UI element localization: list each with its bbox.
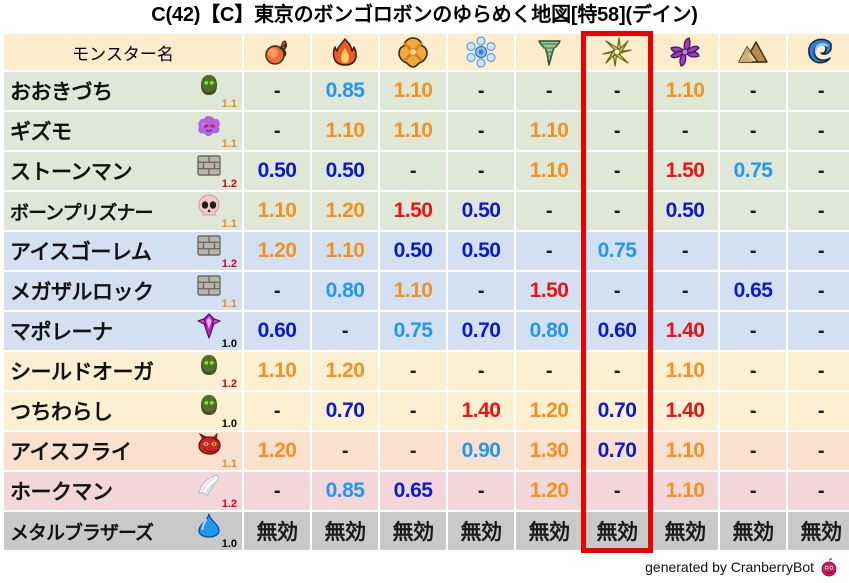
monster-name-label: シールドオーガ xyxy=(10,356,154,386)
resistance-cell[interactable]: 1.10 xyxy=(380,112,446,150)
monster-name-label: ホークマン xyxy=(10,476,113,506)
resistance-cell[interactable]: 1.50 xyxy=(516,272,582,310)
header-monster-name: モンスター名 xyxy=(4,34,242,70)
purple-ghost-icon xyxy=(195,113,223,139)
resistance-cell[interactable]: - xyxy=(312,312,378,350)
mountain-icon xyxy=(737,36,769,68)
resistance-cell[interactable]: - xyxy=(516,352,582,390)
resistance-cell[interactable]: - xyxy=(720,112,786,150)
resistance-cell[interactable]: 無効 xyxy=(312,512,378,550)
tornado-icon xyxy=(533,36,565,68)
monster-icon-wrap: 1.2 xyxy=(192,232,238,270)
resistance-cell[interactable]: - xyxy=(788,232,849,270)
resistance-cell[interactable]: 無効 xyxy=(516,512,582,550)
header-element-mera[interactable] xyxy=(244,34,310,70)
resistance-cell[interactable]: - xyxy=(516,72,582,110)
resistance-cell[interactable]: - xyxy=(244,272,310,310)
resistance-cell[interactable]: 1.10 xyxy=(380,272,446,310)
resistance-cell[interactable]: 0.75 xyxy=(380,312,446,350)
brick-wall-icon xyxy=(195,233,223,259)
table-body: おおきづち1.1-0.851.10---1.10--ギズモ1.1-1.101.1… xyxy=(4,72,849,550)
snowflake-icon xyxy=(465,36,497,68)
resistance-cell[interactable]: - xyxy=(720,432,786,470)
resistance-cell[interactable]: 1.10 xyxy=(244,352,310,390)
monster-name-cell[interactable]: メタルブラザーズ1.0 xyxy=(4,512,242,550)
resistance-cell[interactable]: - xyxy=(448,72,514,110)
monster-level-multiplier: 1.1 xyxy=(222,99,237,110)
resistance-cell[interactable]: 1.10 xyxy=(652,352,718,390)
resistance-cell[interactable]: 1.10 xyxy=(312,232,378,270)
monster-name-label: アイスフライ xyxy=(10,436,131,466)
monster-level-multiplier: 1.2 xyxy=(222,179,237,190)
resistance-cell[interactable]: - xyxy=(448,272,514,310)
monster-level-multiplier: 1.1 xyxy=(222,459,237,470)
resistance-cell[interactable]: 0.50 xyxy=(448,192,514,230)
resistance-cell[interactable]: - xyxy=(788,72,849,110)
monster-name-cell[interactable]: ホークマン1.2 xyxy=(4,472,242,510)
resistance-cell[interactable]: - xyxy=(720,232,786,270)
resistance-cell[interactable]: - xyxy=(448,112,514,150)
resistance-cell[interactable]: - xyxy=(516,232,582,270)
red-dragon-icon xyxy=(195,433,223,459)
resistance-cell[interactable]: 1.10 xyxy=(516,152,582,190)
footer-text: generated by CranberryBot xyxy=(645,559,814,575)
resistance-cell[interactable]: 無効 xyxy=(788,512,849,550)
monster-icon-wrap: 1.2 xyxy=(192,152,238,190)
table-row: つちわらし1.0-0.70-1.401.200.701.40-- xyxy=(4,392,849,430)
resistance-cell[interactable]: 0.60 xyxy=(584,312,650,350)
monster-name-cell[interactable]: アイスフライ1.1 xyxy=(4,432,242,470)
white-wing-icon xyxy=(195,473,223,499)
resistance-cell[interactable]: - xyxy=(380,352,446,390)
resistance-cell[interactable]: - xyxy=(380,152,446,190)
resistance-cell[interactable]: 1.20 xyxy=(312,192,378,230)
table-row: メガザルロック1.1-0.801.10-1.50--0.65- xyxy=(4,272,849,310)
table-header-row: モンスター名 xyxy=(4,34,849,70)
table-row: シールドオーガ1.21.101.20----1.10-- xyxy=(4,352,849,390)
table-row: ギズモ1.1-1.101.10-1.10---- xyxy=(4,112,849,150)
resistance-cell[interactable]: - xyxy=(720,472,786,510)
monster-name-label: つちわらし xyxy=(10,396,113,426)
wave-icon xyxy=(805,36,837,68)
header-element-io[interactable] xyxy=(380,34,446,70)
monster-level-multiplier: 1.0 xyxy=(222,539,237,550)
resistance-cell[interactable]: 0.50 xyxy=(244,152,310,190)
resistance-cell[interactable]: 無効 xyxy=(380,512,446,550)
monster-name-label: マポレーナ xyxy=(10,316,113,346)
resistance-cell[interactable]: - xyxy=(448,352,514,390)
resistance-cell[interactable]: - xyxy=(584,192,650,230)
header-element-dein[interactable] xyxy=(584,34,650,70)
resistance-cell[interactable]: - xyxy=(788,152,849,190)
cranberry-icon xyxy=(819,557,839,577)
monster-name-cell[interactable]: つちわらし1.0 xyxy=(4,392,242,430)
monster-name-label: ボーンプリズナー xyxy=(10,198,152,225)
resistance-cell[interactable]: - xyxy=(720,312,786,350)
table-row: アイスフライ1.11.20--0.901.300.701.10-- xyxy=(4,432,849,470)
resistance-cell[interactable]: - xyxy=(380,392,446,430)
monster-name-cell[interactable]: ギズモ1.1 xyxy=(4,112,242,150)
resistance-cell[interactable]: 1.40 xyxy=(652,392,718,430)
resistance-cell[interactable]: 0.85 xyxy=(312,472,378,510)
monster-name-cell[interactable]: ストーンマン1.2 xyxy=(4,152,242,190)
table-row: ボーンプリズナー1.11.101.201.500.50--0.50-- xyxy=(4,192,849,230)
resistance-cell[interactable]: 無効 xyxy=(652,512,718,550)
monster-name-cell[interactable]: シールドオーガ1.2 xyxy=(4,352,242,390)
resistance-cell[interactable]: 1.30 xyxy=(516,432,582,470)
table-row: ストーンマン1.20.500.50--1.10-1.500.75- xyxy=(4,152,849,190)
resistance-cell[interactable]: 1.20 xyxy=(244,232,310,270)
resistance-cell[interactable]: - xyxy=(720,352,786,390)
resistance-cell[interactable]: 0.60 xyxy=(244,312,310,350)
resistance-cell[interactable]: 無効 xyxy=(720,512,786,550)
resistance-cell[interactable]: - xyxy=(788,472,849,510)
resistance-cell[interactable]: - xyxy=(516,192,582,230)
brick-wall-icon xyxy=(195,273,223,299)
resistance-cell[interactable]: - xyxy=(244,392,310,430)
monster-level-multiplier: 1.0 xyxy=(222,419,237,430)
resistance-cell[interactable]: - xyxy=(244,112,310,150)
resistance-cell[interactable]: 1.20 xyxy=(516,472,582,510)
resistance-cell[interactable]: - xyxy=(584,112,650,150)
explosion-icon xyxy=(397,36,429,68)
monster-level-multiplier: 1.1 xyxy=(222,139,237,150)
resistance-cell[interactable]: - xyxy=(788,112,849,150)
monster-icon-wrap: 1.1 xyxy=(192,272,238,310)
monster-name-cell[interactable]: おおきづち1.1 xyxy=(4,72,242,110)
resistance-cell[interactable]: 1.50 xyxy=(380,192,446,230)
flame-icon xyxy=(329,36,361,68)
blue-slime-icon xyxy=(195,513,223,539)
resistance-cell[interactable]: 0.70 xyxy=(584,392,650,430)
resistance-cell[interactable]: 1.10 xyxy=(516,112,582,150)
resistance-cell[interactable]: - xyxy=(244,472,310,510)
brick-wall-icon xyxy=(195,153,223,179)
monster-name-label: ストーンマン xyxy=(10,156,132,186)
resistance-cell[interactable]: 無効 xyxy=(244,512,310,550)
resistance-cell[interactable]: - xyxy=(244,72,310,110)
resistance-cell[interactable]: 0.70 xyxy=(312,392,378,430)
monster-icon-wrap: 1.2 xyxy=(192,352,238,390)
resistance-cell[interactable]: - xyxy=(788,352,849,390)
green-slime-icon xyxy=(195,353,223,379)
resistance-cell[interactable]: 1.10 xyxy=(312,112,378,150)
monster-level-multiplier: 1.2 xyxy=(222,259,237,270)
green-slime-icon xyxy=(195,393,223,419)
resistance-cell[interactable]: 0.80 xyxy=(516,312,582,350)
table-row: おおきづち1.1-0.851.10---1.10-- xyxy=(4,72,849,110)
resistance-table: モンスター名 xyxy=(2,32,849,552)
resistance-cell[interactable]: - xyxy=(788,192,849,230)
resistance-cell[interactable]: - xyxy=(652,112,718,150)
monster-name-label: メタルブラザーズ xyxy=(10,518,153,545)
resistance-cell[interactable]: 0.85 xyxy=(312,72,378,110)
monster-icon-wrap: 1.1 xyxy=(192,192,238,230)
monster-name-cell[interactable]: マポレーナ1.0 xyxy=(4,312,242,350)
resistance-cell[interactable]: - xyxy=(788,312,849,350)
resistance-cell[interactable]: - xyxy=(788,432,849,470)
resistance-cell[interactable]: 無効 xyxy=(448,512,514,550)
monster-icon-wrap: 1.1 xyxy=(192,432,238,470)
green-slime-icon xyxy=(195,73,223,99)
header-element-hyado[interactable] xyxy=(448,34,514,70)
monster-level-multiplier: 1.2 xyxy=(222,379,237,390)
monster-name-label: ギズモ xyxy=(10,116,72,146)
page-title: C(42)【C】東京のボンゴロボンのゆらめく地図[特58](デイン) xyxy=(0,0,849,32)
resistance-cell[interactable]: 0.50 xyxy=(380,232,446,270)
resistance-cell[interactable]: - xyxy=(584,272,650,310)
monster-name-cell[interactable]: ボーンプリズナー1.1 xyxy=(4,192,242,230)
resistance-cell[interactable]: 無効 xyxy=(584,512,650,550)
resistance-cell[interactable]: 1.20 xyxy=(312,352,378,390)
resistance-cell[interactable]: 0.80 xyxy=(312,272,378,310)
monster-icon-wrap: 1.2 xyxy=(192,472,238,510)
resistance-cell[interactable]: 1.50 xyxy=(652,152,718,190)
resistance-cell[interactable]: 1.10 xyxy=(652,72,718,110)
monster-icon-wrap: 1.0 xyxy=(192,512,238,550)
monster-icon-wrap: 1.1 xyxy=(192,112,238,150)
resistance-cell[interactable]: 0.75 xyxy=(584,232,650,270)
resistance-cell[interactable]: - xyxy=(788,392,849,430)
monster-name-cell[interactable]: メガザルロック1.1 xyxy=(4,272,242,310)
resistance-cell[interactable]: 0.70 xyxy=(448,312,514,350)
resistance-cell[interactable]: - xyxy=(720,192,786,230)
resistance-cell[interactable]: - xyxy=(788,272,849,310)
resistance-cell[interactable]: 1.20 xyxy=(516,392,582,430)
monster-icon-wrap: 1.0 xyxy=(192,312,238,350)
header-element-gira[interactable] xyxy=(312,34,378,70)
resistance-cell[interactable]: - xyxy=(448,472,514,510)
resistance-cell[interactable]: 1.40 xyxy=(652,312,718,350)
resistance-cell[interactable]: - xyxy=(448,152,514,190)
lightburst-icon xyxy=(601,36,633,68)
monster-level-multiplier: 1.0 xyxy=(222,339,237,350)
resistance-cell[interactable]: 0.75 xyxy=(720,152,786,190)
resistance-cell[interactable]: 0.50 xyxy=(448,232,514,270)
resistance-cell[interactable]: 1.10 xyxy=(380,72,446,110)
darkflower-icon xyxy=(669,36,701,68)
resistance-cell[interactable]: - xyxy=(312,432,378,470)
resistance-cell[interactable]: 1.10 xyxy=(652,432,718,470)
resistance-cell[interactable]: 0.65 xyxy=(380,472,446,510)
monster-name-label: アイスゴーレム xyxy=(10,236,151,266)
monster-name-cell[interactable]: アイスゴーレム1.2 xyxy=(4,232,242,270)
header-element-bagi[interactable] xyxy=(516,34,582,70)
resistance-cell[interactable]: - xyxy=(652,232,718,270)
resistance-cell[interactable]: - xyxy=(380,432,446,470)
resistance-cell[interactable]: 1.10 xyxy=(652,472,718,510)
monster-icon-wrap: 1.0 xyxy=(192,392,238,430)
resistance-cell[interactable]: 1.10 xyxy=(244,192,310,230)
resistance-cell[interactable]: 0.50 xyxy=(312,152,378,190)
resistance-cell[interactable]: 0.90 xyxy=(448,432,514,470)
monster-name-label: おおきづち xyxy=(10,76,113,106)
monster-name-label: メガザルロック xyxy=(10,276,154,306)
magenta-crystal-icon xyxy=(195,313,223,339)
resistance-cell[interactable]: - xyxy=(584,352,650,390)
monster-level-multiplier: 1.1 xyxy=(222,299,237,310)
header-element-dorma[interactable] xyxy=(652,34,718,70)
monster-icon-wrap: 1.1 xyxy=(192,72,238,110)
resistance-cell[interactable]: 0.65 xyxy=(720,272,786,310)
skull-icon xyxy=(195,193,223,219)
header-element-jibaria[interactable] xyxy=(720,34,786,70)
resistance-cell[interactable]: - xyxy=(720,392,786,430)
resistance-cell[interactable]: 0.70 xyxy=(584,432,650,470)
monster-level-multiplier: 1.2 xyxy=(222,499,237,510)
table-row: ホークマン1.2-0.850.65-1.20-1.10-- xyxy=(4,472,849,510)
resistance-cell[interactable]: - xyxy=(720,72,786,110)
table-row: マポレーナ1.00.60-0.750.700.800.601.40-- xyxy=(4,312,849,350)
header-element-dorumadon[interactable] xyxy=(788,34,849,70)
monster-level-multiplier: 1.1 xyxy=(222,219,237,230)
resistance-cell[interactable]: - xyxy=(584,152,650,190)
resistance-cell[interactable]: - xyxy=(584,472,650,510)
resistance-cell[interactable]: - xyxy=(652,272,718,310)
resistance-cell[interactable]: 0.50 xyxy=(652,192,718,230)
resistance-cell[interactable]: - xyxy=(584,72,650,110)
resistance-cell[interactable]: 1.40 xyxy=(448,392,514,430)
table-row: メタルブラザーズ1.0無効無効無効無効無効無効無効無効無効 xyxy=(4,512,849,550)
monster-resistance-chart: C(42)【C】東京のボンゴロボンのゆらめく地図[特58](デイン) モンスター… xyxy=(0,0,849,583)
table-row: アイスゴーレム1.21.201.100.500.50-0.75--- xyxy=(4,232,849,270)
footer: generated by CranberryBot xyxy=(645,557,839,577)
resistance-cell[interactable]: 1.20 xyxy=(244,432,310,470)
fireball-icon xyxy=(261,36,293,68)
